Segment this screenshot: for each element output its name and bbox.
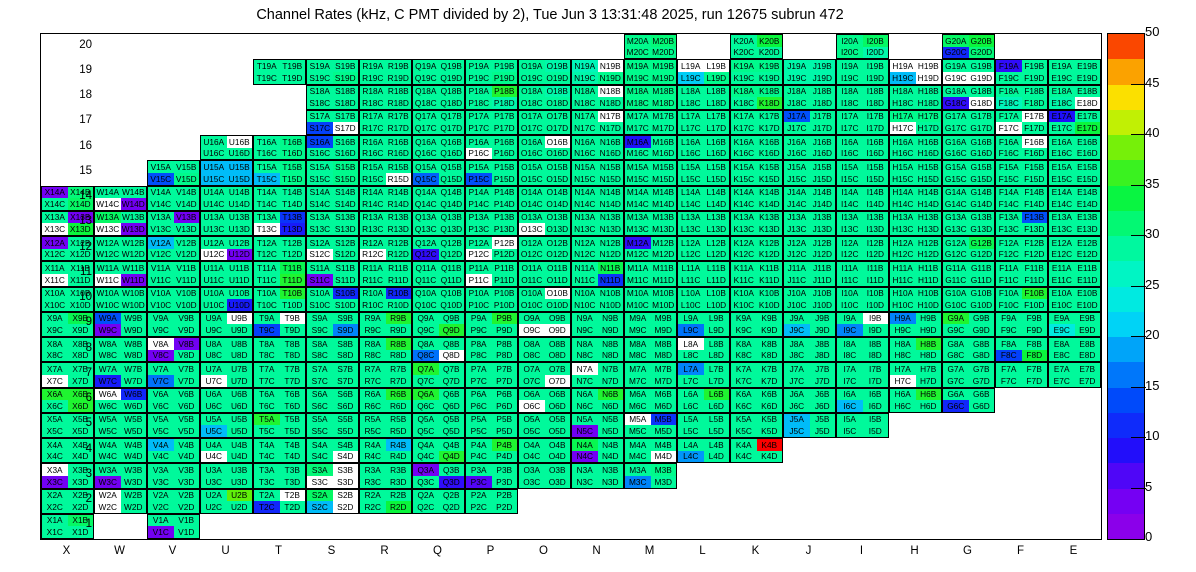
channel-E14B: E14B: [1075, 187, 1101, 199]
channel-S3B: S3B: [333, 464, 359, 476]
module-cell: G15AG15BG15CG15D: [942, 160, 995, 185]
channel-L15C: L15C: [678, 173, 704, 185]
channel-O16B: O16B: [545, 136, 571, 148]
channel-K18B: K18B: [757, 86, 783, 98]
module-cell: L18AL18BL18CL18D: [677, 85, 730, 110]
module-cell: P6AP6BP6CP6D: [465, 388, 518, 413]
channel-P9C: P9C: [466, 324, 492, 336]
channel-L13B: L13B: [704, 212, 730, 224]
module-cell: K13AK13BK13CK13D: [730, 211, 783, 236]
channel-W9A: W9A: [95, 313, 121, 325]
module-cell: T19AT19BT19CT19D: [253, 59, 306, 84]
x-tick-P: P: [461, 545, 521, 557]
channel-K6B: K6B: [757, 389, 783, 401]
channel-U12A: U12A: [201, 237, 227, 249]
channel-G14C: G14C: [943, 198, 969, 210]
channel-Q11D: Q11D: [439, 274, 465, 286]
module-cell: R6AR6BR6CR6D: [359, 388, 412, 413]
channel-J12A: J12A: [784, 237, 810, 249]
module-cell: P3AP3BP3CP3D: [465, 463, 518, 488]
module-cell: J10AJ10BJ10CJ10D: [783, 287, 836, 312]
module-cell: N13AN13BN13CN13D: [571, 211, 624, 236]
module-cell: R15AR15BR15CR15D: [359, 160, 412, 185]
channel-O5D: O5D: [545, 425, 571, 437]
module-cell: E19AE19BE19CE19D: [1048, 59, 1101, 84]
channel-O6B: O6B: [545, 389, 571, 401]
channel-V12B: V12B: [174, 237, 200, 249]
channel-M13C: M13C: [625, 223, 651, 235]
channel-V10A: V10A: [148, 288, 174, 300]
module-cell: T4AT4BT4CT4D: [253, 438, 306, 463]
module-cell: R10AR10BR10CR10D: [359, 287, 412, 312]
channel-E17A: E17A: [1049, 111, 1075, 123]
channel-P8A: P8A: [466, 338, 492, 350]
channel-T15D: T15D: [280, 173, 306, 185]
channel-Q17D: Q17D: [439, 122, 465, 134]
channel-N15A: N15A: [572, 161, 598, 173]
module-cell: E15AE15BE15CE15D: [1048, 160, 1101, 185]
colorbar-ticks: 05101520253035404550: [1107, 33, 1195, 540]
channel-S9B: S9B: [333, 313, 359, 325]
channel-O13A: O13A: [519, 212, 545, 224]
channel-T15B: T15B: [280, 161, 306, 173]
channel-S10B: S10B: [333, 288, 359, 300]
channel-N9A: N9A: [572, 313, 598, 325]
module-cell: H13AH13BH13CH13D: [889, 211, 942, 236]
module-cell: G10AG10BG10CG10D: [942, 287, 995, 312]
channel-F12D: F12D: [1022, 249, 1048, 261]
channel-T11D: T11D: [280, 274, 306, 286]
module-cell: H12AH12BH12CH12D: [889, 236, 942, 261]
channel-O10A: O10A: [519, 288, 545, 300]
channel-F11C: F11C: [996, 274, 1022, 286]
module-cell: I8AI8BI8CI8D: [836, 337, 889, 362]
channel-F9B: F9B: [1022, 313, 1048, 325]
channel-M11D: M11D: [651, 274, 677, 286]
x-tick-X: X: [37, 545, 97, 557]
channel-W12D: W12D: [121, 249, 147, 261]
y-tick-3: 3: [32, 468, 92, 480]
module-cell: M15AM15BM15CM15D: [624, 160, 677, 185]
channel-Q7D: Q7D: [439, 375, 465, 387]
channel-I7C: I7C: [837, 375, 863, 387]
channel-E9C: E9C: [1049, 324, 1075, 336]
channel-I10B: I10B: [863, 288, 889, 300]
channel-O10B: O10B: [545, 288, 571, 300]
module-cell: F16AF16BF16CF16D: [995, 135, 1048, 160]
module-cell: U15AU15BU15CU15D: [200, 160, 253, 185]
channel-H17D: H17D: [916, 122, 942, 134]
module-cell: S15AS15BS15CS15D: [306, 160, 359, 185]
channel-M10A: M10A: [625, 288, 651, 300]
channel-H8A: H8A: [890, 338, 916, 350]
channel-P14D: P14D: [492, 198, 518, 210]
module-cell: K9AK9BK9CK9D: [730, 312, 783, 337]
channel-G11C: G11C: [943, 274, 969, 286]
channel-W14D: W14D: [121, 198, 147, 210]
channel-S12C: S12C: [307, 249, 333, 261]
channel-J18C: J18C: [784, 97, 810, 109]
channel-T5C: T5C: [254, 425, 280, 437]
module-cell: V14AV14BV14CV14D: [147, 186, 200, 211]
y-tick-1: 1: [32, 518, 92, 530]
channel-R19B: R19B: [386, 60, 412, 72]
channel-V7D: V7D: [174, 375, 200, 387]
channel-R15C: R15C: [360, 173, 386, 185]
channel-R10D: R10D: [386, 299, 412, 311]
channel-P18D: P18D: [492, 97, 518, 109]
channel-Q19B: Q19B: [439, 60, 465, 72]
channel-R16A: R16A: [360, 136, 386, 148]
channel-F15B: F15B: [1022, 161, 1048, 173]
y-tick-6: 6: [32, 392, 92, 404]
channel-L6A: L6A: [678, 389, 704, 401]
channel-T7D: T7D: [280, 375, 306, 387]
module-cell: G16AG16BG16CG16D: [942, 135, 995, 160]
channel-K16C: K16C: [731, 148, 757, 160]
channel-L15B: L15B: [704, 161, 730, 173]
module-cell: S7AS7BS7CS7D: [306, 362, 359, 387]
channel-K16A: K16A: [731, 136, 757, 148]
channel-L19D: L19D: [704, 72, 730, 84]
channel-M20B: M20B: [651, 35, 677, 47]
channel-P18C: P18C: [466, 97, 492, 109]
channel-H6C: H6C: [890, 400, 916, 412]
channel-L9B: L9B: [704, 313, 730, 325]
channel-I10C: I10C: [837, 299, 863, 311]
module-cell: M19AM19BM19CM19D: [624, 59, 677, 84]
channel-T9D: T9D: [280, 324, 306, 336]
channel-Q9C: Q9C: [413, 324, 439, 336]
channel-O3B: O3B: [545, 464, 571, 476]
module-cell: I16AI16BI16CI16D: [836, 135, 889, 160]
channel-F13A: F13A: [996, 212, 1022, 224]
channel-S2C: S2C: [307, 501, 333, 513]
channel-V9D: V9D: [174, 324, 200, 336]
channel-T19B: T19B: [280, 60, 306, 72]
channel-Q8A: Q8A: [413, 338, 439, 350]
module-cell: J8AJ8BJ8CJ8D: [783, 337, 836, 362]
channel-E18C: E18C: [1049, 97, 1075, 109]
channel-T10C: T10C: [254, 299, 280, 311]
channel-S11D: S11D: [333, 274, 359, 286]
channel-V7A: V7A: [148, 363, 174, 375]
colorbar-tick-5: 5: [1145, 479, 1152, 494]
channel-E10A: E10A: [1049, 288, 1075, 300]
module-cell: Q3AQ3BQ3CQ3D: [412, 463, 465, 488]
channel-L5B: L5B: [704, 414, 730, 426]
channel-S4D: S4D: [333, 451, 359, 463]
channel-W2D: W2D: [121, 501, 147, 513]
channel-O14A: O14A: [519, 187, 545, 199]
channel-R6D: R6D: [386, 400, 412, 412]
channel-U11B: U11B: [227, 262, 253, 274]
module-cell: K6AK6BK6CK6D: [730, 388, 783, 413]
channel-Q6A: Q6A: [413, 389, 439, 401]
channel-U6D: U6D: [227, 400, 253, 412]
channel-K20B: K20B: [757, 35, 783, 47]
channel-T19D: T19D: [280, 72, 306, 84]
channel-Q11A: Q11A: [413, 262, 439, 274]
channel-E18D: E18D: [1075, 97, 1101, 109]
channel-F18C: F18C: [996, 97, 1022, 109]
channel-N6B: N6B: [598, 389, 624, 401]
channel-N6D: N6D: [598, 400, 624, 412]
module-cell: M17AM17BM17CM17D: [624, 110, 677, 135]
channel-G20C: G20C: [943, 47, 969, 59]
module-cell: M7AM7BM7CM7D: [624, 362, 677, 387]
channel-F8D: F8D: [1022, 350, 1048, 362]
module-cell: N8AN8BN8CN8D: [571, 337, 624, 362]
channel-M6A: M6A: [625, 389, 651, 401]
channel-M5A: M5A: [625, 414, 651, 426]
channel-S6C: S6C: [307, 400, 333, 412]
channel-I11B: I11B: [863, 262, 889, 274]
channel-L9A: L9A: [678, 313, 704, 325]
channel-T8C: T8C: [254, 350, 280, 362]
channel-W4D: W4D: [121, 451, 147, 463]
channel-Q3D: Q3D: [439, 476, 465, 488]
channel-L13D: L13D: [704, 223, 730, 235]
channel-U8A: U8A: [201, 338, 227, 350]
channel-P16A: P16A: [466, 136, 492, 148]
channel-R17B: R17B: [386, 111, 412, 123]
channel-N13D: N13D: [598, 223, 624, 235]
channel-V14A: V14A: [148, 187, 174, 199]
module-cell: L7AL7BL7CL7D: [677, 362, 730, 387]
channel-U2D: U2D: [227, 501, 253, 513]
channel-T14B: T14B: [280, 187, 306, 199]
channel-H13B: H13B: [916, 212, 942, 224]
channel-J19A: J19A: [784, 60, 810, 72]
channel-N15B: N15B: [598, 161, 624, 173]
channel-I16D: I16D: [863, 148, 889, 160]
channel-W11B: W11B: [121, 262, 147, 274]
channel-L17D: L17D: [704, 122, 730, 134]
channel-M4A: M4A: [625, 439, 651, 451]
channel-K15D: K15D: [757, 173, 783, 185]
channel-T3D: T3D: [280, 476, 306, 488]
channel-M16C: M16C: [625, 148, 651, 160]
channel-Q2C: Q2C: [413, 501, 439, 513]
channel-J9A: J9A: [784, 313, 810, 325]
channel-L10D: L10D: [704, 299, 730, 311]
channel-H7D: H7D: [916, 375, 942, 387]
channel-V7C: V7C: [148, 375, 174, 387]
colorbar-tick-20: 20: [1145, 327, 1159, 342]
channel-F11D: F11D: [1022, 274, 1048, 286]
channel-U7B: U7B: [227, 363, 253, 375]
channel-G17D: G17D: [969, 122, 995, 134]
module-cell: E12AE12BE12CE12D: [1048, 236, 1101, 261]
channel-H17B: H17B: [916, 111, 942, 123]
channel-N14A: N14A: [572, 187, 598, 199]
module-cell: K15AK15BK15CK15D: [730, 160, 783, 185]
channel-E15D: E15D: [1075, 173, 1101, 185]
module-cell: T10AT10BT10CT10D: [253, 287, 306, 312]
channel-U12C: U12C: [201, 249, 227, 261]
channel-J14A: J14A: [784, 187, 810, 199]
channel-Q10D: Q10D: [439, 299, 465, 311]
channel-R4A: R4A: [360, 439, 386, 451]
module-cell: M13AM13BM13CM13D: [624, 211, 677, 236]
channel-W2B: W2B: [121, 490, 147, 502]
channel-U11C: U11C: [201, 274, 227, 286]
module-cell: Q16AQ16BQ16CQ16D: [412, 135, 465, 160]
channel-G9A: G9A: [943, 313, 969, 325]
channel-O3D: O3D: [545, 476, 571, 488]
channel-S17B: S17B: [333, 111, 359, 123]
channel-S17D: S17D: [333, 122, 359, 134]
channel-E14C: E14C: [1049, 198, 1075, 210]
channel-N7B: N7B: [598, 363, 624, 375]
module-cell: H7AH7BH7CH7D: [889, 362, 942, 387]
channel-I11A: I11A: [837, 262, 863, 274]
channel-S19A: S19A: [307, 60, 333, 72]
channel-H18D: H18D: [916, 97, 942, 109]
channel-K19C: K19C: [731, 72, 757, 84]
module-cell: V13AV13BV13CV13D: [147, 211, 200, 236]
channel-U6A: U6A: [201, 389, 227, 401]
channel-F16C: F16C: [996, 148, 1022, 160]
module-cell: R12AR12BR12CR12D: [359, 236, 412, 261]
channel-M17B: M17B: [651, 111, 677, 123]
channel-M8A: M8A: [625, 338, 651, 350]
channel-K10B: K10B: [757, 288, 783, 300]
channel-P12A: P12A: [466, 237, 492, 249]
module-cell: M5AM5BM5CM5D: [624, 413, 677, 438]
module-cell: F7AF7BF7CF7D: [995, 362, 1048, 387]
channel-L6D: L6D: [704, 400, 730, 412]
module-cell: K10AK10BK10CK10D: [730, 287, 783, 312]
module-cell: N6AN6BN6CN6D: [571, 388, 624, 413]
module-cell: U8AU8BU8CU8D: [200, 337, 253, 362]
channel-T5B: T5B: [280, 414, 306, 426]
module-cell: M10AM10BM10CM10D: [624, 287, 677, 312]
channel-P9D: P9D: [492, 324, 518, 336]
channel-K13D: K13D: [757, 223, 783, 235]
module-cell: I14AI14BI14CI14D: [836, 186, 889, 211]
module-cell: I19AI19BI19CI19D: [836, 59, 889, 84]
channel-O19B: O19B: [545, 60, 571, 72]
channel-P17C: P17C: [466, 122, 492, 134]
channel-S9A: S9A: [307, 313, 333, 325]
channel-M16A: M16A: [625, 136, 651, 148]
channel-E18B: E18B: [1075, 86, 1101, 98]
channel-E12A: E12A: [1049, 237, 1075, 249]
colorbar-tick-30: 30: [1145, 226, 1159, 241]
channel-O14B: O14B: [545, 187, 571, 199]
module-cell: L10AL10BL10CL10D: [677, 287, 730, 312]
channel-L18A: L18A: [678, 86, 704, 98]
channel-T14C: T14C: [254, 198, 280, 210]
channel-S14D: S14D: [333, 198, 359, 210]
module-cell: N4AN4BN4CN4D: [571, 438, 624, 463]
channel-Q14C: Q14C: [413, 198, 439, 210]
channel-O6D: O6D: [545, 400, 571, 412]
module-cell: S10AS10BS10CS10D: [306, 287, 359, 312]
module-cell: E9AE9BE9CE9D: [1048, 312, 1101, 337]
module-cell: Q18AQ18BQ18CQ18D: [412, 85, 465, 110]
channel-S7A: S7A: [307, 363, 333, 375]
channel-U4B: U4B: [227, 439, 253, 451]
module-cell: M12AM12BM12CM12D: [624, 236, 677, 261]
channel-J10B: J10B: [810, 288, 836, 300]
channel-G14B: G14B: [969, 187, 995, 199]
chart-title: Channel Rates (kHz, C PMT divided by 2),…: [0, 7, 1100, 23]
module-cell: G8AG8BG8CG8D: [942, 337, 995, 362]
channel-G13D: G13D: [969, 223, 995, 235]
channel-Q15C: Q15C: [413, 173, 439, 185]
channel-E10B: E10B: [1075, 288, 1101, 300]
channel-U15A: U15A: [201, 161, 227, 173]
module-cell: I15AI15BI15CI15D: [836, 160, 889, 185]
channel-W10A: W10A: [95, 288, 121, 300]
channel-R11C: R11C: [360, 274, 386, 286]
channel-I13D: I13D: [863, 223, 889, 235]
channel-S11A: S11A: [307, 262, 333, 274]
channel-W6B: W6B: [121, 389, 147, 401]
channel-P4A: P4A: [466, 439, 492, 451]
channel-T15C: T15C: [254, 173, 280, 185]
module-cell: O5AO5BO5CO5D: [518, 413, 571, 438]
channel-F11A: F11A: [996, 262, 1022, 274]
channel-M14C: M14C: [625, 198, 651, 210]
module-cell: J13AJ13BJ13CJ13D: [783, 211, 836, 236]
channel-W12C: W12C: [95, 249, 121, 261]
channel-T19C: T19C: [254, 72, 280, 84]
channel-I16A: I16A: [837, 136, 863, 148]
channel-E19B: E19B: [1075, 60, 1101, 72]
module-cell: U13AU13BU13CU13D: [200, 211, 253, 236]
channel-V1A: V1A: [148, 515, 174, 527]
channel-E7D: E7D: [1075, 375, 1101, 387]
channel-L18B: L18B: [704, 86, 730, 98]
channel-Q15B: Q15B: [439, 161, 465, 173]
channel-U4C: U4C: [201, 451, 227, 463]
channel-S4B: S4B: [333, 439, 359, 451]
module-cell: J17AJ17BJ17CJ17D: [783, 110, 836, 135]
channel-V2C: V2C: [148, 501, 174, 513]
channel-U16B: U16B: [227, 136, 253, 148]
channel-J5D: J5D: [810, 425, 836, 437]
channel-O4B: O4B: [545, 439, 571, 451]
colorbar-tick-mark: [1131, 286, 1146, 287]
y-tick-4: 4: [32, 443, 92, 455]
channel-I12D: I12D: [863, 249, 889, 261]
channel-Q15A: Q15A: [413, 161, 439, 173]
channel-I9D: I9D: [863, 324, 889, 336]
module-cell: W2AW2BW2CW2D: [94, 489, 147, 514]
channel-S4C: S4C: [307, 451, 333, 463]
channel-W5C: W5C: [95, 425, 121, 437]
channel-R2A: R2A: [360, 490, 386, 502]
channel-I10D: I10D: [863, 299, 889, 311]
channel-U8D: U8D: [227, 350, 253, 362]
channel-W8C: W8C: [95, 350, 121, 362]
module-cell: U2AU2BU2CU2D: [200, 489, 253, 514]
channel-H16B: H16B: [916, 136, 942, 148]
module-cell: P8AP8BP8CP8D: [465, 337, 518, 362]
channel-F15A: F15A: [996, 161, 1022, 173]
channel-W6A: W6A: [95, 389, 121, 401]
module-cell: L16AL16BL16CL16D: [677, 135, 730, 160]
channel-N7D: N7D: [598, 375, 624, 387]
channel-R10B: R10B: [386, 288, 412, 300]
channel-S16D: S16D: [333, 148, 359, 160]
module-cell: J14AJ14BJ14CJ14D: [783, 186, 836, 211]
module-cell: P7AP7BP7CP7D: [465, 362, 518, 387]
